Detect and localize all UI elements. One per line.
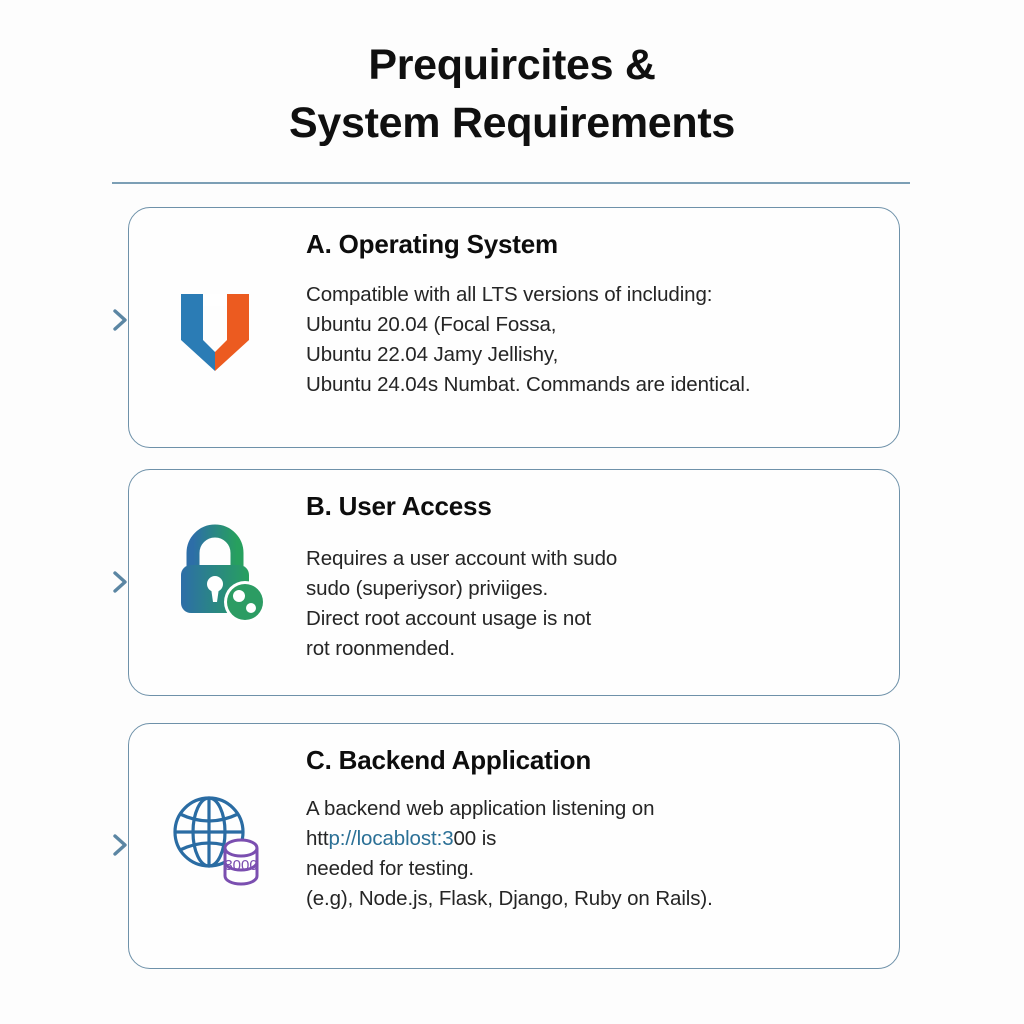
globe-database-icon: 3000 (163, 786, 267, 890)
card-heading: B. User Access (306, 490, 885, 522)
card-description: A backend web application listening on h… (306, 794, 885, 914)
card-body: A. Operating System Compatible with all … (306, 228, 885, 400)
card-description: Requires a user account with sudo sudo (… (306, 544, 885, 664)
card-body: C. Backend Application A backend web app… (306, 744, 885, 914)
database-port-label: 3000 (224, 857, 257, 874)
page-title-line-1: Prequircites & (0, 36, 1024, 94)
card-body: B. User Access Requires a user account w… (306, 490, 885, 664)
description-segment: p://locablost:3 (329, 827, 454, 850)
padlock-user-icon (163, 520, 267, 624)
requirement-card-operating-system: A. Operating System Compatible with all … (128, 207, 900, 448)
page-title: Prequircites & System Requirements (0, 36, 1024, 152)
page-title-line-2: System Requirements (0, 94, 1024, 152)
card-heading: A. Operating System (306, 228, 885, 260)
card-heading: C. Backend Application (306, 744, 885, 776)
card-description: Compatible with all LTS versions of incl… (306, 280, 885, 400)
requirement-card-user-access: B. User Access Requires a user account w… (128, 469, 900, 696)
requirement-card-backend-application: 3000 C. Backend Application A backend we… (128, 723, 900, 969)
title-divider (112, 182, 910, 184)
ubuntu-shield-icon (163, 270, 267, 374)
